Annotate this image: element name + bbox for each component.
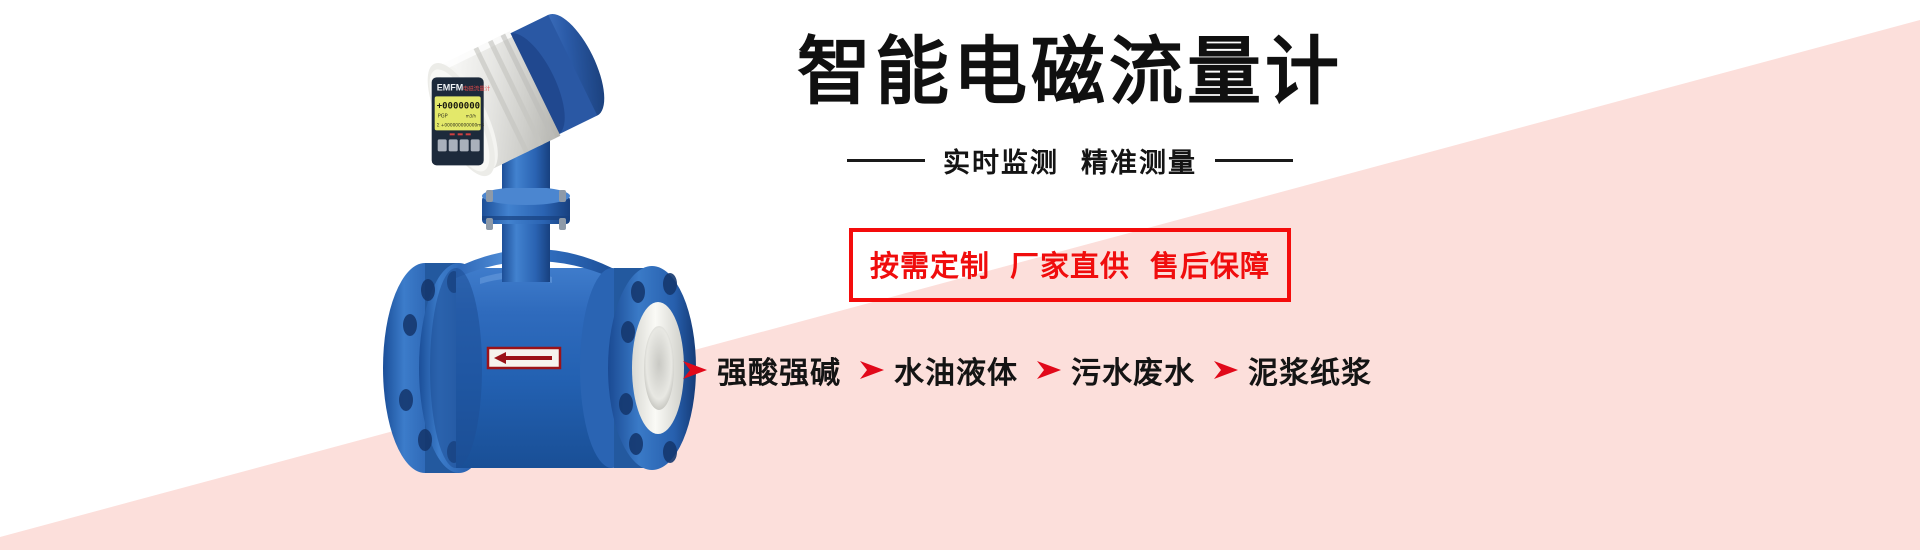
subtitle-left: 实时监测	[943, 148, 1059, 179]
subtitle-rule-right	[1215, 159, 1293, 162]
neck-flange-collar	[482, 187, 570, 230]
badge-item-2: 售后保障	[1150, 249, 1270, 283]
product-image-electromagnetic-flowmeter: EMFM 电磁流量计 +0000000 PGP m3/h Σ +00000000…	[370, 0, 770, 500]
right-triangle-arrow-icon	[859, 360, 885, 380]
feature-item: 污水废水	[1036, 348, 1195, 392]
badge-item-1: 厂家直供	[1010, 249, 1130, 283]
feature-list: 强酸强碱 水油液体 污水废水 泥浆纸浆	[654, 348, 1400, 392]
transmitter-display-face: EMFM 电磁流量计 +0000000 PGP m3/h Σ +00000000…	[432, 77, 491, 165]
feature-item: 泥浆纸浆	[1213, 348, 1372, 392]
subtitle-rule-left	[847, 159, 925, 162]
guarantee-badge: 按需定制厂家直供售后保障	[849, 228, 1291, 302]
guarantee-badge-text: 按需定制厂家直供售后保障	[870, 249, 1270, 283]
feature-label: 泥浆纸浆	[1248, 348, 1372, 392]
transmitter-brand-sub-text: 电磁流量计	[463, 84, 491, 92]
badge-item-0: 按需定制	[870, 249, 990, 283]
lcd-label: PGP	[438, 113, 448, 119]
flowmeter-illustration: EMFM 电磁流量计 +0000000 PGP m3/h Σ +00000000…	[370, 0, 770, 500]
subtitle-row: 实时监测精准测量	[740, 141, 1400, 180]
transmitter-brand-text: EMFM	[437, 82, 464, 92]
indicator-leds	[450, 133, 471, 135]
feature-label: 水油液体	[894, 348, 1018, 392]
right-triangle-arrow-icon	[682, 360, 708, 380]
copy-block: 智能电磁流量计 实时监测精准测量 按需定制厂家直供售后保障 强酸强碱 水油液体	[740, 30, 1400, 392]
right-triangle-arrow-icon	[1036, 360, 1062, 380]
flow-direction-label	[488, 348, 560, 368]
feature-item: 强酸强碱	[682, 348, 841, 392]
right-triangle-arrow-icon	[1213, 360, 1239, 380]
promo-banner: EMFM 电磁流量计 +0000000 PGP m3/h Σ +00000000…	[0, 0, 1920, 550]
subtitle-right: 精准测量	[1081, 148, 1197, 179]
feature-label: 强酸强碱	[717, 348, 841, 392]
feature-label: 污水废水	[1071, 348, 1195, 392]
feature-item: 水油液体	[859, 348, 1018, 392]
subtitle-text: 实时监测精准测量	[943, 141, 1197, 180]
page-title: 智能电磁流量计	[740, 30, 1400, 115]
lcd-unit: m3/h	[466, 113, 477, 118]
lcd-total-value: Σ +000000000000m3	[437, 122, 485, 128]
lcd-main-value: +0000000	[437, 101, 480, 111]
